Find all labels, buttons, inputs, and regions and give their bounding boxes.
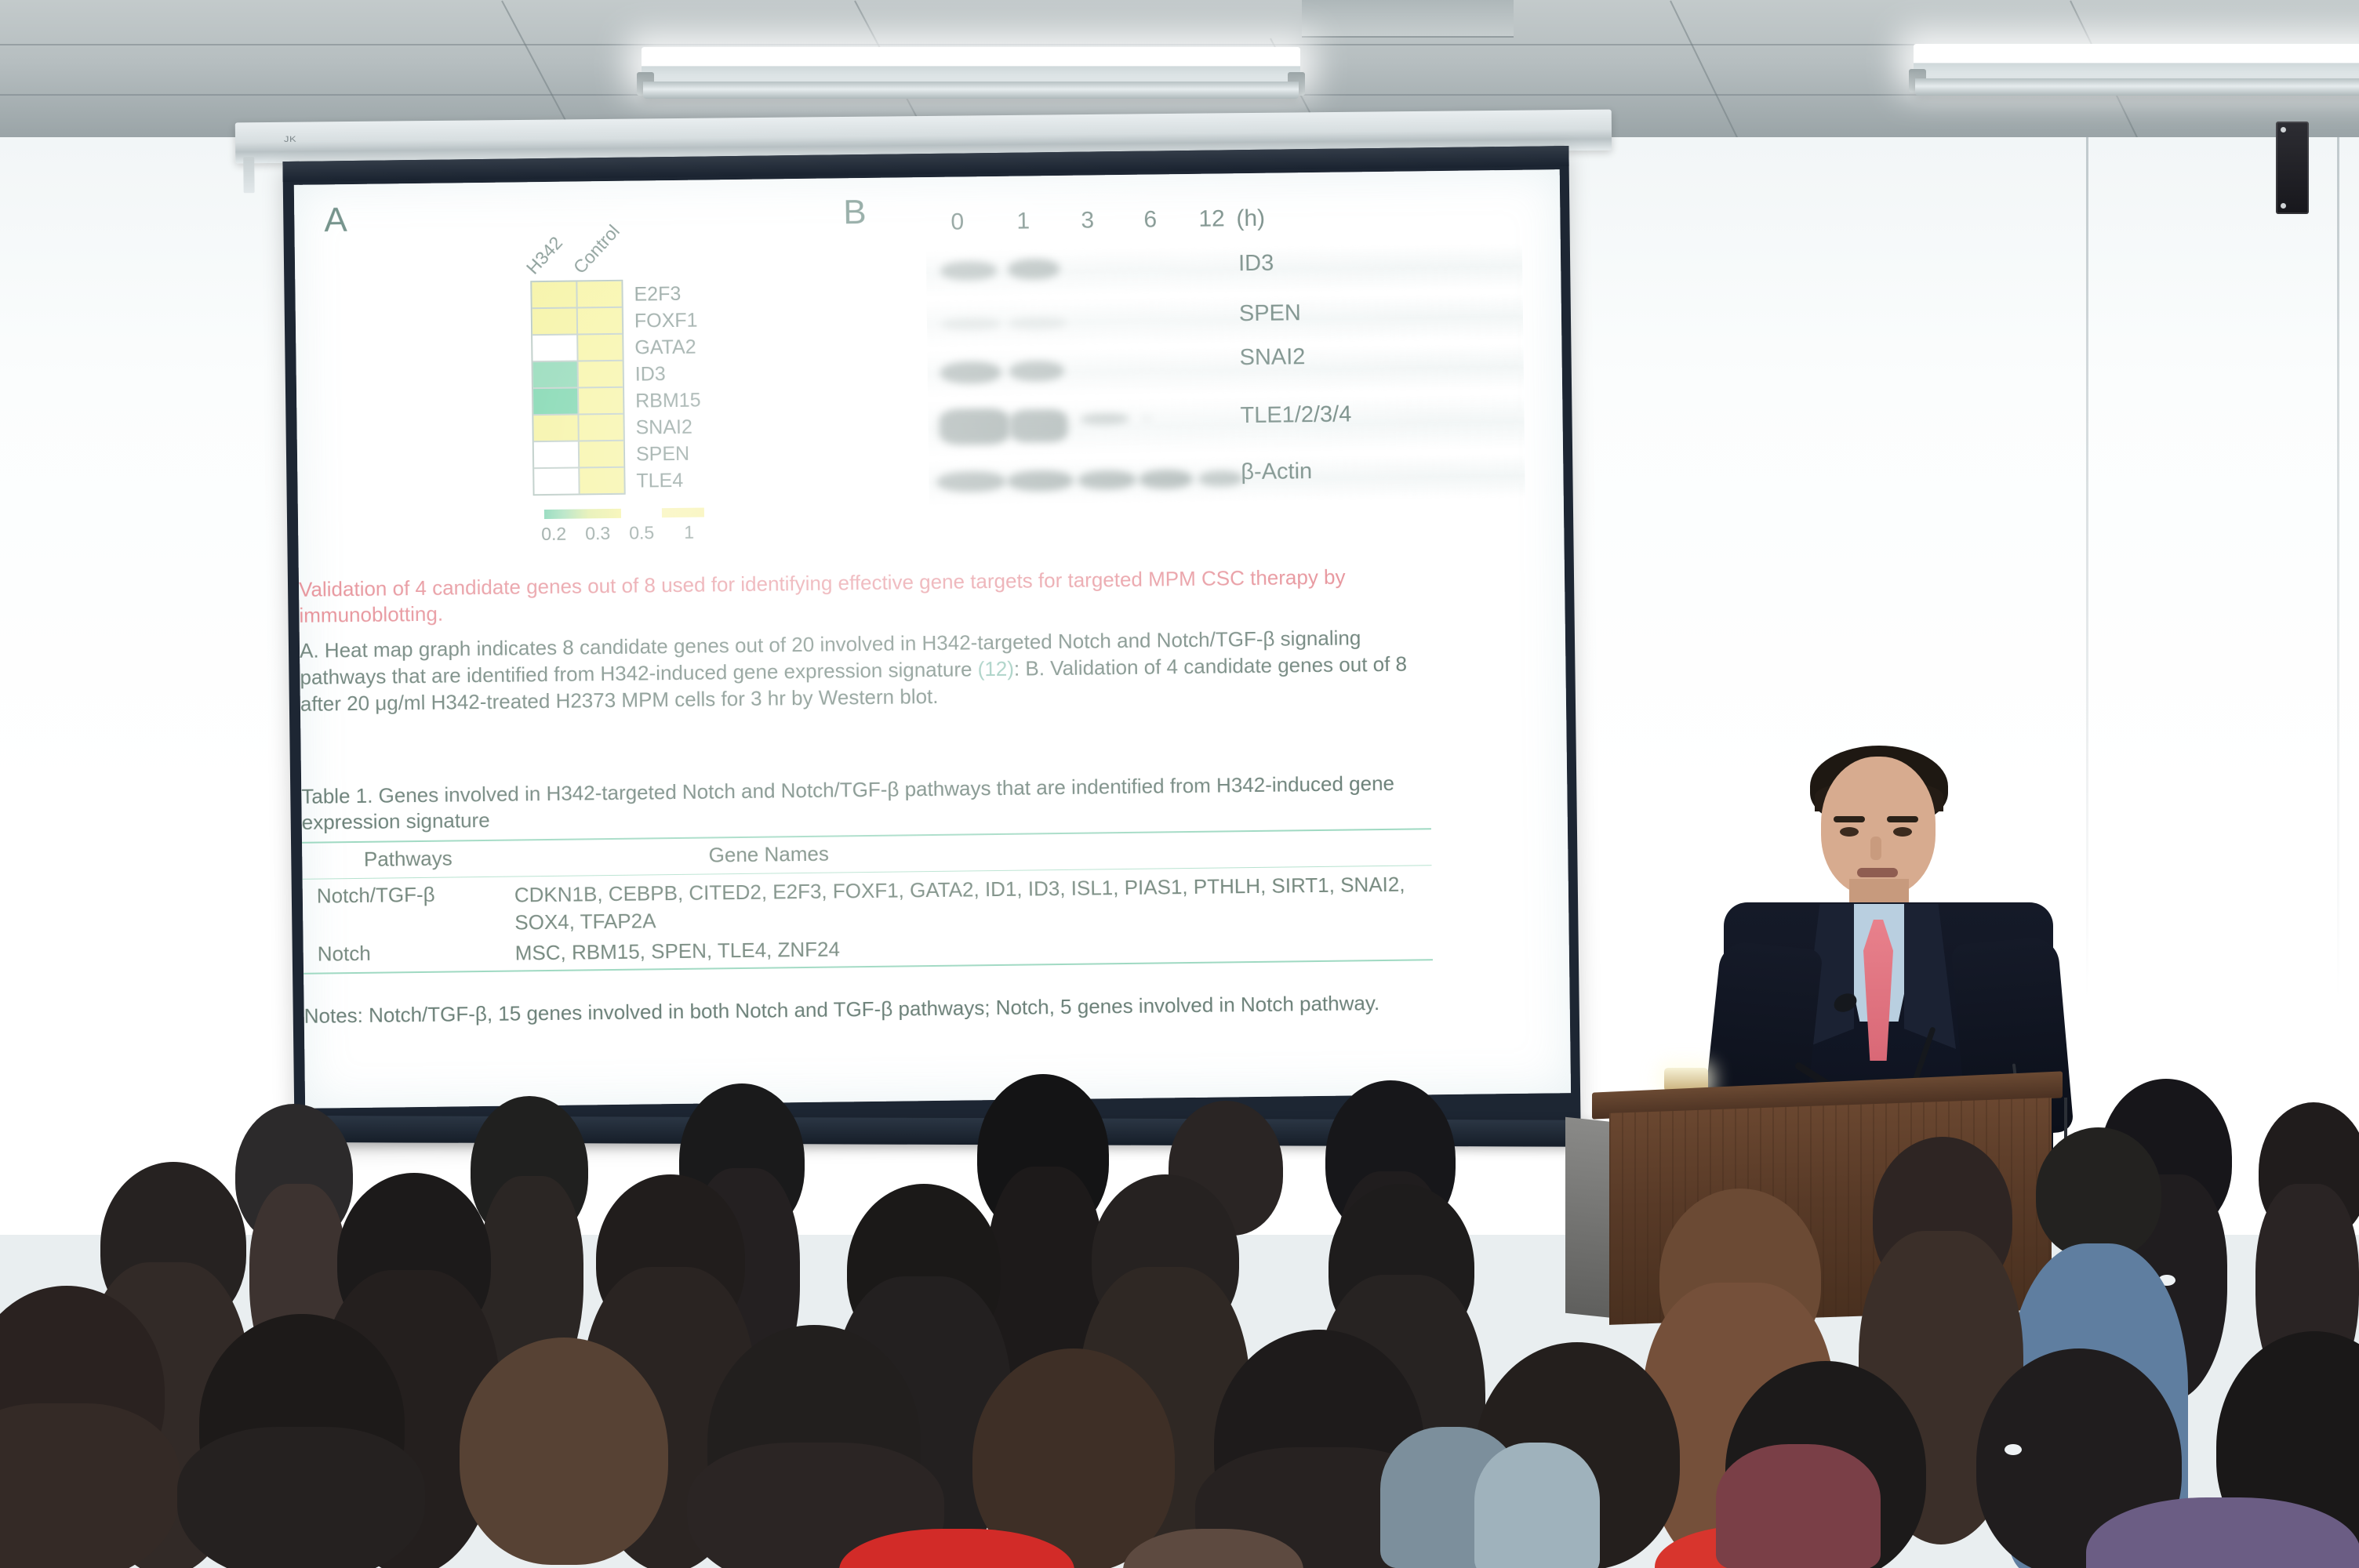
heatmap-row-label: FOXF1 [630,307,700,335]
heatmap-grid [530,280,625,495]
colorbar-tick: 0.5 [629,522,654,544]
heatmap-col-header-h342: H342 [522,233,567,279]
table-title: Table 1. Genes involved in H342-targeted… [301,771,1400,837]
audience-hair [0,1403,180,1568]
heatmap-cell [532,334,577,361]
heatmap-row-label: ID3 [631,361,701,388]
audience-head [460,1338,668,1565]
ceiling-light-fixture-2 [1914,44,2359,80]
housing-brand-label: JK [284,134,296,143]
blot-row: TLE1/2/3/4 [928,394,1525,456]
panel-b-letter: B [843,192,867,234]
blot-time-label: 1 [1016,207,1030,235]
projected-slide: A B H342 Control [294,169,1571,1109]
blot-time-label: 0 [951,208,964,236]
table-col-header-pathways: Pathways [302,846,514,873]
heatmap-row-label: TLE4 [631,467,702,495]
heatmap-cell [533,414,578,441]
heatmap-cell [533,387,578,415]
heatmap-cell [577,307,623,335]
colorbar-tick: 0.2 [541,524,566,546]
projection-screen: A B H342 Control [282,146,1580,1142]
ceiling-vent [1302,0,1514,38]
wall-speaker-icon [2276,122,2309,214]
lecture-hall-scene: JK A B H342 Control [0,0,2359,1568]
heatmap-cell [533,467,579,495]
blot-row-label: TLE1/2/3/4 [1240,401,1351,430]
table-notes: Notes: Notch/TGF-β, 15 genes involved in… [304,989,1434,1029]
heatmap-cell [576,281,622,308]
caption-citation: (12) [978,657,1015,681]
audience-clothing [1474,1443,1600,1568]
heatmap-panel: H342 Control [529,222,625,495]
blot-row: SNAI2 [927,344,1524,397]
audience-hair [177,1427,425,1568]
blot-time-label: 3 [1081,206,1094,234]
ceiling-light-fixture-1 [642,47,1300,83]
blot-time-axis: 0 1 3 6 12 (h) [925,201,1521,243]
blot-row: ID3 [926,244,1523,296]
blot-row-label: SPEN [1239,299,1301,328]
slide-caption-title: Validation of 4 candidate genes out of 8… [299,563,1421,629]
blot-row: SPEN [927,294,1524,347]
heatmap-cell [532,307,577,335]
gene-table: Pathways Gene Names Notch/TGF-β CDKN1B, … [302,828,1433,975]
heatmap-cell [578,414,623,441]
colorbar-tick: 1 [684,522,694,544]
colorbar-tick: 0.3 [585,523,610,545]
heatmap-cell [579,441,624,468]
table-cell-genes: CDKN1B, CEBPB, CITED2, E2F3, FOXF1, GATA… [514,870,1433,936]
slide-caption-body: A. Heat map graph indicates 8 candidate … [300,624,1445,717]
panel-a-letter: A [324,200,347,241]
heatmap-row-labels: E2F3 FOXF1 GATA2 ID3 RBM15 SNAI2 SPEN TL… [629,281,702,495]
heatmap-row-label: SNAI2 [631,414,701,441]
western-blot-panel: 0 1 3 6 12 (h) ID3 [925,201,1525,505]
heatmap-cell [531,281,576,308]
heatmap-cell [579,467,624,495]
blot-time-label: 12 [1198,205,1225,233]
heatmap-cell [578,387,623,415]
blot-time-unit: (h) [1236,205,1265,233]
audience-hair-tie [2005,1444,2022,1455]
audience-head [2036,1127,2161,1259]
heatmap-row-label: SPEN [631,441,702,468]
heatmap-cell [533,441,579,468]
heatmap-col-header-control: Control [569,221,624,278]
audience-clothing [1716,1444,1881,1568]
blot-time-label: 6 [1143,205,1157,234]
heatmap-cell [533,361,578,388]
blot-row-label: β-Actin [1241,458,1312,486]
table-cell-pathway: Notch [304,940,515,970]
blot-row: β-Actin [929,454,1525,505]
blot-row-label: SNAI2 [1239,343,1305,372]
heatmap-cell [577,334,623,361]
audience [0,1090,2359,1568]
table-cell-pathway: Notch/TGF-β [303,882,515,939]
heatmap-row-label: GATA2 [630,334,700,361]
heatmap-colorbar: 0.2 0.3 0.5 1 [544,508,662,510]
table-col-header-genes: Gene Names [514,834,1431,869]
blot-row-label: ID3 [1238,250,1274,278]
heatmap-row-label: RBM15 [631,387,701,415]
heatmap-row-label: E2F3 [629,281,700,308]
heatmap-cell [578,361,623,388]
